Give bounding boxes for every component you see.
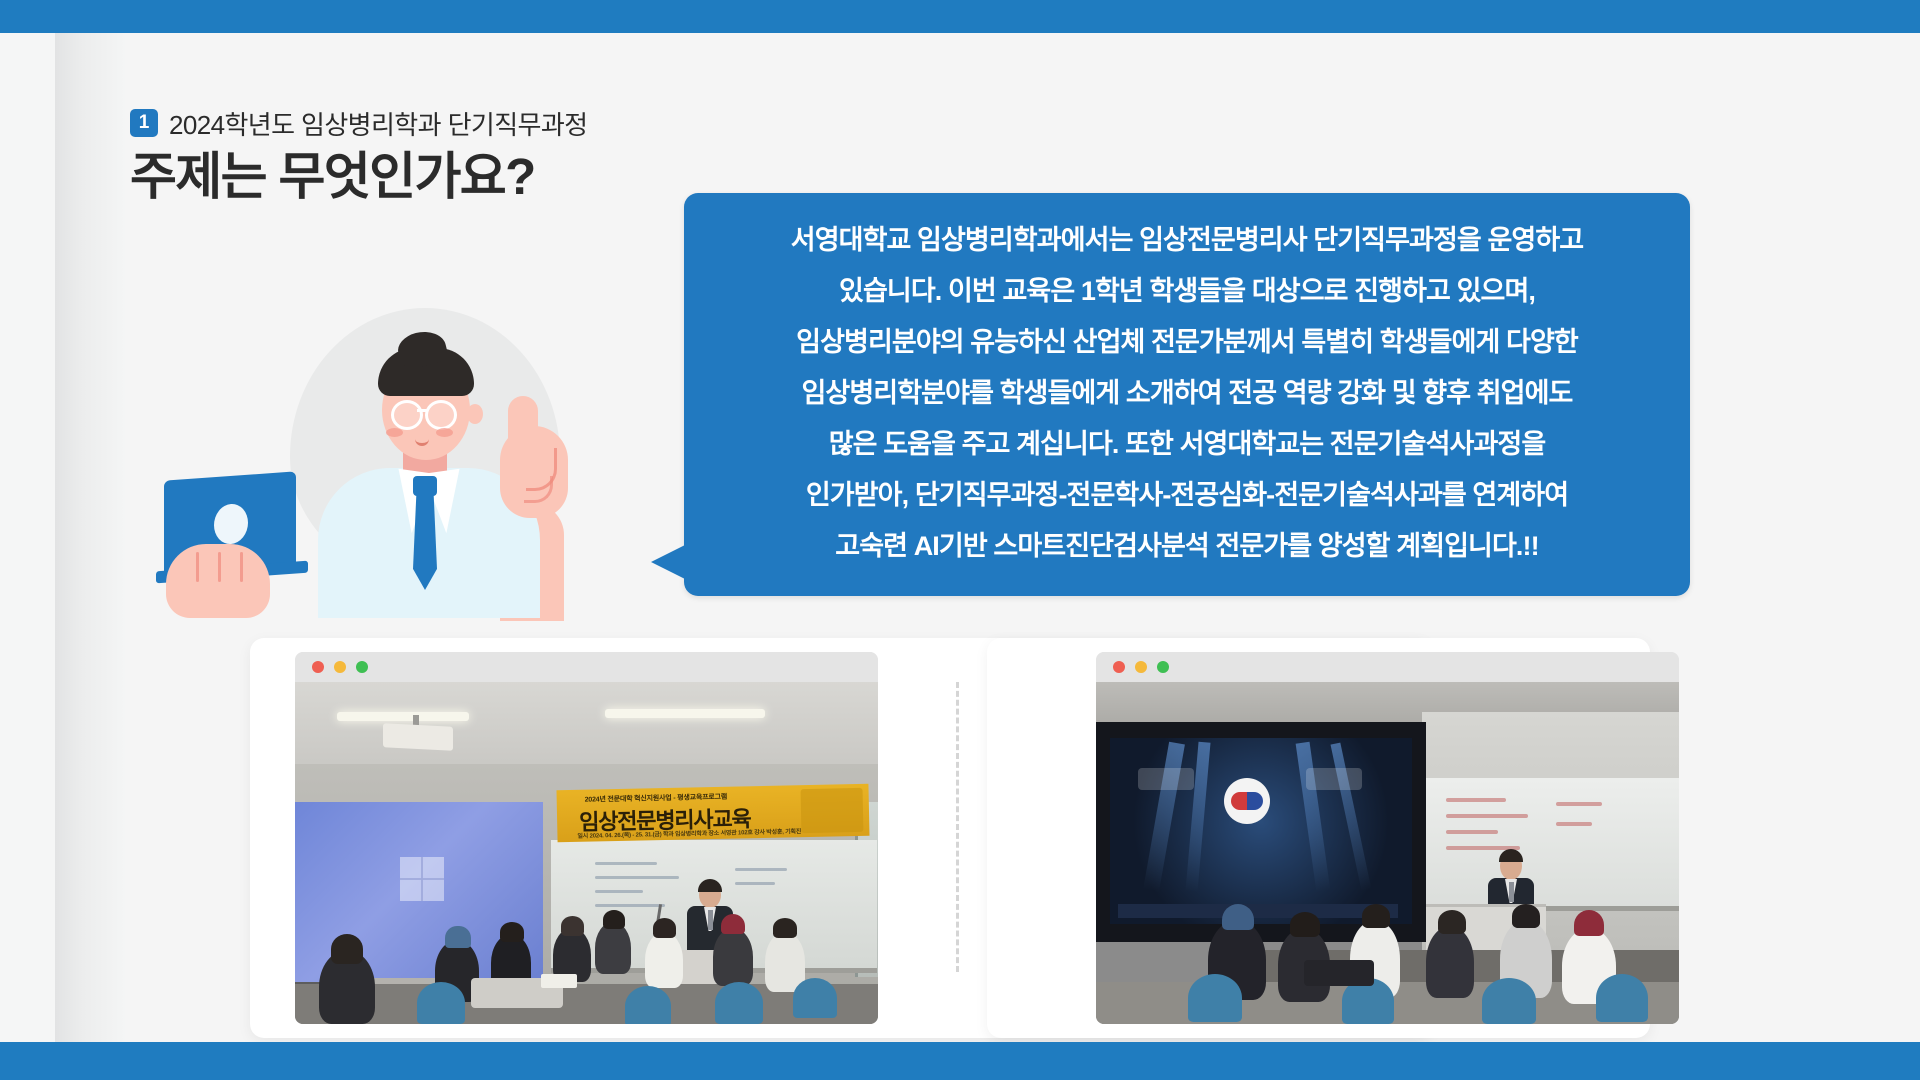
slide-header: 1 2024학년도 임상병리학과 단기직무과정 주제는 무엇인가요? (130, 109, 588, 205)
bubble-line-3: 임상병리분야의 유능하신 산업체 전문가분께서 특별히 학생들에게 다양한 (710, 317, 1664, 368)
bubble-line-4: 임상병리학분야를 학생들에게 소개하여 전공 역량 강화 및 향후 취업에도 (710, 368, 1664, 419)
photo-image-left: 2024년 전문대학 혁신지원사업 - 평생교육프로그램 임상전문병리사교육 일… (295, 682, 878, 1024)
eyebrow-row: 1 2024학년도 임상병리학과 단기직무과정 (130, 109, 588, 137)
glasses-bridge-icon (417, 409, 427, 412)
bubble-line-2: 있습니다. 이번 교육은 1학년 학생들을 대상으로 진행하고 있으며, (710, 266, 1664, 317)
page-title: 주제는 무엇인가요? (130, 148, 588, 205)
glasses-left-lens-icon (391, 400, 423, 430)
ceiling-light-2 (605, 709, 765, 718)
page-spine (0, 33, 55, 1042)
student-head (1512, 904, 1540, 928)
student-head (603, 910, 625, 929)
pointing-finger-icon (508, 396, 538, 456)
student-figure (645, 932, 683, 988)
chair (1596, 974, 1648, 1022)
bubble-line-5: 많은 도움을 주고 계십니다. 또한 서영대학교는 전문기술석사과정을 (710, 419, 1664, 470)
character-blush-left (386, 428, 403, 437)
event-banner: 2024년 전문대학 혁신지원사업 - 평생교육프로그램 임상전문병리사교육 일… (556, 784, 869, 843)
character-illustration (170, 308, 645, 618)
character-tie-knot (413, 476, 437, 496)
student-figure (1426, 926, 1474, 998)
character-ear (467, 404, 483, 424)
photo-card-right (987, 638, 1650, 1038)
speech-bubble-tail (651, 545, 685, 579)
chair (625, 986, 671, 1024)
student-head (1222, 904, 1254, 930)
section-number-badge: 1 (130, 109, 158, 137)
bubble-line-6: 인가받아, 단기직무과정-전문학사-전공심화-전문기술석사과를 연계하여 (710, 470, 1664, 521)
close-dot-icon[interactable] (1113, 661, 1125, 673)
flag-emblem-icon (1224, 778, 1270, 824)
student-head (773, 918, 797, 938)
finger-crease-2 (218, 552, 221, 582)
finger-crease-3 (240, 552, 243, 582)
student-figure (713, 928, 753, 986)
bubble-line-1: 서영대학교 임상병리학과에서는 임상전문병리사 단기직무과정을 운영하고 (710, 215, 1664, 266)
eyebrow-label: 2024학년도 임상병리학과 단기직무과정 (169, 105, 588, 142)
screen-logo-right (1306, 768, 1362, 790)
screen-logo-left (1138, 768, 1194, 790)
chair (417, 982, 465, 1024)
student-head (500, 922, 524, 942)
photo-image-right (1096, 682, 1679, 1024)
student-head (331, 934, 363, 964)
slide-frame: 1 2024학년도 임상병리학과 단기직무과정 주제는 무엇인가요? (0, 33, 1920, 1042)
photo-frame-left: 2024년 전문대학 혁신지원사업 - 평생교육프로그램 임상전문병리사교육 일… (295, 652, 878, 1024)
student-head (653, 918, 676, 938)
glasses-right-lens-icon (425, 400, 457, 430)
student-head (561, 916, 584, 936)
character-blush-right (436, 428, 453, 437)
bubble-line-7: 고숙련 AI기반 스마트진단검사분석 전문가를 양성할 계획입니다.!! (710, 521, 1664, 572)
maximize-dot-icon[interactable] (1157, 661, 1169, 673)
browser-titlebar-left (295, 652, 878, 682)
chair (715, 982, 763, 1024)
minimize-dot-icon[interactable] (1135, 661, 1147, 673)
student-head (445, 926, 471, 948)
page-spine-shadow (55, 33, 125, 1042)
student-figure (595, 922, 631, 974)
student-head (1290, 912, 1320, 937)
windows-logo-icon (400, 857, 444, 901)
minimize-dot-icon[interactable] (334, 661, 346, 673)
photo-frame-right (1096, 652, 1679, 1024)
photo-divider (956, 682, 959, 972)
projector-icon (383, 723, 453, 751)
student-head (721, 914, 745, 934)
maximize-dot-icon[interactable] (356, 661, 368, 673)
browser-titlebar-right (1096, 652, 1679, 682)
banner-illustration (801, 788, 864, 833)
student-head (1574, 910, 1604, 936)
student-head (1438, 910, 1466, 934)
chair (1188, 974, 1242, 1022)
finger-crease-1 (196, 552, 199, 582)
chair (793, 978, 837, 1018)
ceiling-light-1 (337, 712, 469, 721)
description-speech-bubble: 서영대학교 임상병리학과에서는 임상전문병리사 단기직무과정을 운영하고 있습니… (684, 193, 1690, 596)
chair (1482, 978, 1536, 1024)
student-head (1362, 904, 1390, 928)
close-dot-icon[interactable] (312, 661, 324, 673)
